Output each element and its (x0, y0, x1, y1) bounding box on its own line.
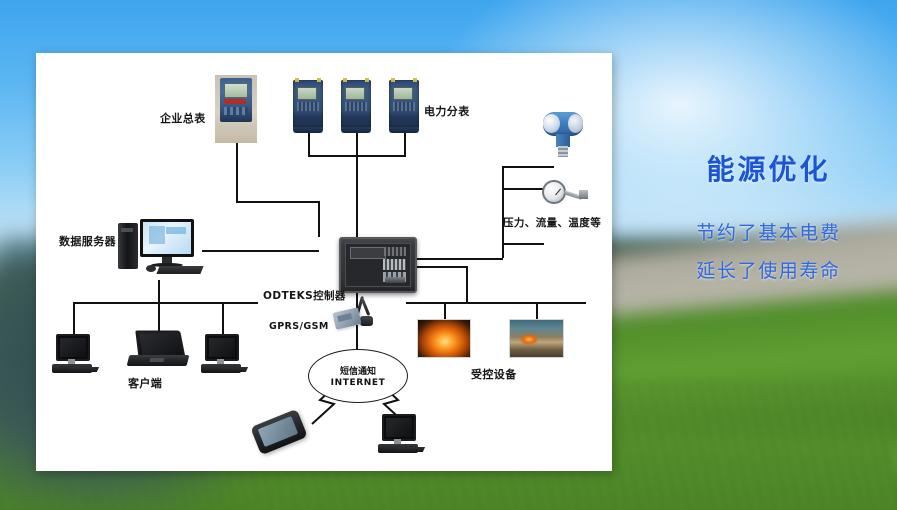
power-submeter-2[interactable] (341, 80, 371, 128)
server-mouse (146, 265, 156, 272)
controller-bottom-port (385, 277, 405, 283)
line-controller-top-right (356, 188, 358, 237)
equipment-plant-photo[interactable] (509, 319, 564, 358)
desktop-monitor (205, 334, 239, 361)
meter-tab-right (317, 78, 321, 82)
line-sensor-to-controller (413, 258, 503, 260)
gauge-dial (542, 180, 566, 204)
line-enterprise-to-bus (236, 201, 318, 203)
meter-tab-right (413, 78, 417, 82)
label-controlled-equipment: 受控设备 (471, 366, 517, 382)
line-equipment-2-drop (536, 302, 538, 320)
equipment-furnace-photo[interactable] (417, 319, 471, 358)
slide-bullet-2: 延长了使用寿命 (640, 256, 897, 283)
pressure-transmitter-device[interactable] (541, 108, 585, 160)
line-controller-top-left (318, 201, 320, 237)
line-equipment-1-drop (444, 302, 446, 320)
server-monitor (140, 219, 194, 257)
line-client-1-drop (73, 302, 75, 336)
line-submeter-bus-down (356, 155, 358, 188)
meter-tab-left (295, 78, 299, 82)
slide-bullet-1: 节约了基本电费 (640, 218, 897, 245)
line-sensor-bus-top (502, 166, 554, 168)
meter-base (389, 127, 419, 133)
line-client-3-drop (222, 302, 224, 336)
controller-keypad (384, 247, 406, 256)
data-server-device[interactable] (118, 219, 202, 275)
desktop-monitor (382, 414, 416, 441)
diagram-panel: 企业总表 电力分表 (36, 53, 612, 471)
line-controller-to-equipment (413, 266, 468, 268)
cloud-label-sms: 短信通知 (340, 364, 376, 377)
transmitter-cap-left (543, 114, 560, 133)
network-topology-diagram: 企业总表 电力分表 (36, 53, 612, 471)
laptop-touchpad (150, 358, 165, 362)
server-screen (143, 222, 191, 254)
client-desktop-left[interactable] (50, 334, 96, 374)
meter-red-band (224, 99, 246, 104)
label-enterprise-meter: 企业总表 (160, 110, 206, 126)
gauge-fitting (579, 190, 588, 199)
label-power-submeter: 电力分表 (424, 103, 470, 119)
desktop-keyboard (69, 367, 99, 372)
transmitter-cap-right (568, 114, 583, 133)
desktop-keyboard (395, 447, 425, 452)
line-server-down (158, 280, 160, 303)
client-desktop-right[interactable] (199, 334, 245, 374)
label-gprs-gsm: GPRS/GSM (269, 321, 329, 332)
controller-terminals (383, 259, 406, 270)
power-submeter-1[interactable] (293, 80, 323, 128)
meter-body (220, 78, 252, 122)
transmitter-thread (558, 146, 568, 157)
modem-body (332, 307, 361, 329)
label-sensors: 压力、流量、温度等 (503, 215, 601, 230)
line-client-bus (73, 302, 258, 304)
line-gauge-branch (502, 243, 544, 245)
slide-headline: 能源优化 (640, 148, 897, 188)
line-enterprise-meter-drop (236, 133, 238, 203)
gprs-modem-device[interactable] (334, 296, 380, 330)
controller-display (350, 247, 386, 259)
meter-buttons (224, 107, 248, 115)
client-laptop[interactable] (128, 330, 188, 370)
line-equipment-bus (406, 302, 586, 304)
internet-cloud-node[interactable]: 短信通知 INTERNET (308, 349, 408, 403)
meter-base (293, 127, 323, 133)
remote-desktop-device[interactable] (376, 414, 422, 454)
cloud-label-internet: INTERNET (331, 378, 386, 388)
meter-tab-right (365, 78, 369, 82)
label-data-server: 数据服务器 (59, 233, 116, 249)
modem-antenna-2 (361, 298, 371, 316)
meter-tab-left (391, 78, 395, 82)
meter-display (224, 83, 248, 98)
server-tower (118, 223, 138, 269)
line-client-2-drop (158, 302, 160, 332)
desktop-monitor (56, 334, 90, 361)
slide-text-block: 能源优化 节约了基本电费 延长了使用寿命 (640, 140, 897, 310)
line-server-to-controller (202, 250, 319, 252)
line-equipment-bus-up (466, 266, 468, 303)
meter-tab-left (343, 78, 347, 82)
mobile-phone-device[interactable] (254, 417, 306, 451)
enterprise-meter-device[interactable] (215, 75, 257, 143)
controller-faceplate (345, 243, 411, 287)
line-transmitter-branch (502, 188, 546, 190)
pressure-gauge-device[interactable] (542, 180, 588, 208)
modem-antenna-base (360, 316, 373, 326)
meter-base (341, 127, 371, 133)
odteks-controller-device[interactable] (339, 237, 417, 293)
label-client: 客户端 (128, 375, 162, 391)
power-submeter-3[interactable] (389, 80, 419, 128)
server-keyboard (156, 266, 203, 274)
desktop-keyboard (218, 367, 248, 372)
